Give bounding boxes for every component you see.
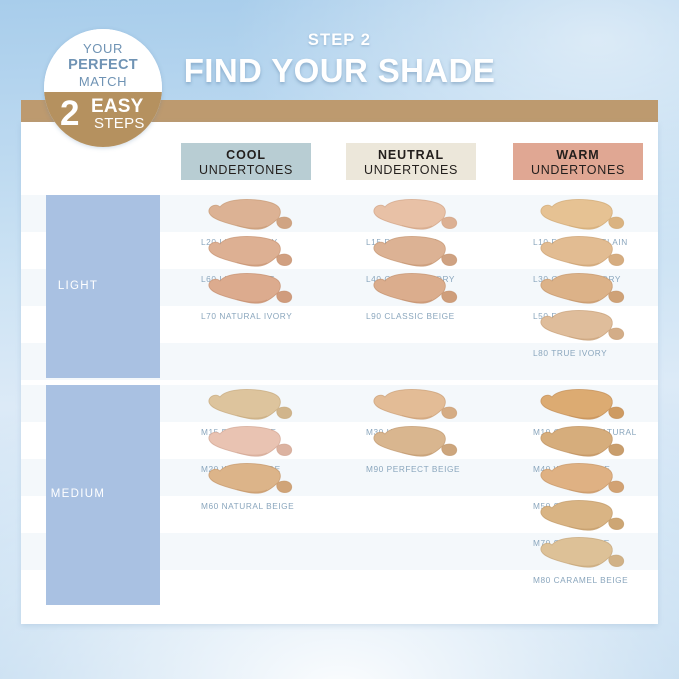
foundation-smear-icon xyxy=(539,272,633,312)
shade-grid: LIGHTL20 LIGHT IVORYL60 LIGHT NUDEL70 NA… xyxy=(21,195,658,605)
shade-cell[interactable]: L70 NATURAL IVORY xyxy=(201,272,351,330)
foundation-smear-icon xyxy=(207,198,301,238)
foundation-smear-icon xyxy=(372,272,466,312)
foundation-smear-icon xyxy=(539,536,633,576)
category-label-light: LIGHT xyxy=(21,280,135,292)
column-header-cool-title: COOL xyxy=(181,143,311,162)
foundation-smear-icon xyxy=(539,462,633,502)
foundation-smear-icon xyxy=(207,462,301,502)
foundation-smear-icon xyxy=(539,198,633,238)
column-header-warm-title: WARM xyxy=(513,143,643,162)
shade-name-label: L80 TRUE IVORY xyxy=(533,348,679,358)
seal-perfect-text: PERFECT xyxy=(44,57,162,73)
column-header-neutral-title: NEUTRAL xyxy=(346,143,476,162)
column-header-cool: COOL UNDERTONES xyxy=(181,143,311,180)
shade-cell[interactable]: M80 CARAMEL BEIGE xyxy=(533,536,679,594)
foundation-smear-icon xyxy=(539,388,633,428)
shade-name-label: L90 CLASSIC BEIGE xyxy=(366,311,516,321)
foundation-smear-icon xyxy=(207,388,301,428)
shade-cell[interactable]: M90 PERFECT BEIGE xyxy=(366,425,516,483)
foundation-smear-icon xyxy=(207,235,301,275)
seal-your-text: YOUR xyxy=(44,41,162,56)
foundation-smear-icon xyxy=(207,272,301,312)
seal-steps-text: STEPS xyxy=(94,115,145,132)
shade-name-label: M60 NATURAL BEIGE xyxy=(201,501,351,511)
shade-cell[interactable]: M60 NATURAL BEIGE xyxy=(201,462,351,520)
foundation-smear-icon xyxy=(539,425,633,465)
infographic-canvas: STEP 2 FIND YOUR SHADE COOL UNDERTONES N… xyxy=(0,0,679,679)
perfect-match-seal: YOUR PERFECT MATCH 2 EASY STEPS xyxy=(44,29,162,147)
column-header-warm: WARM UNDERTONES xyxy=(513,143,643,180)
foundation-smear-icon xyxy=(372,198,466,238)
category-label-medium: MEDIUM xyxy=(21,488,135,500)
foundation-smear-icon xyxy=(372,235,466,275)
shade-name-label: M90 PERFECT BEIGE xyxy=(366,464,516,474)
column-header-neutral-sub: UNDERTONES xyxy=(346,162,476,177)
column-header-warm-sub: UNDERTONES xyxy=(513,162,643,177)
seal-step-count: 2 xyxy=(60,95,79,133)
column-header-neutral: NEUTRAL UNDERTONES xyxy=(346,143,476,180)
foundation-smear-icon xyxy=(372,388,466,428)
foundation-smear-icon xyxy=(207,425,301,465)
foundation-smear-icon xyxy=(539,499,633,539)
foundation-smear-icon xyxy=(539,309,633,349)
shade-name-label: L70 NATURAL IVORY xyxy=(201,311,351,321)
foundation-smear-icon xyxy=(539,235,633,275)
shade-cell[interactable]: L80 TRUE IVORY xyxy=(533,309,679,367)
seal-match-text: MATCH xyxy=(44,74,162,89)
foundation-smear-icon xyxy=(372,425,466,465)
shade-name-label: M80 CARAMEL BEIGE xyxy=(533,575,679,585)
column-header-cool-sub: UNDERTONES xyxy=(181,162,311,177)
shade-cell[interactable]: L90 CLASSIC BEIGE xyxy=(366,272,516,330)
